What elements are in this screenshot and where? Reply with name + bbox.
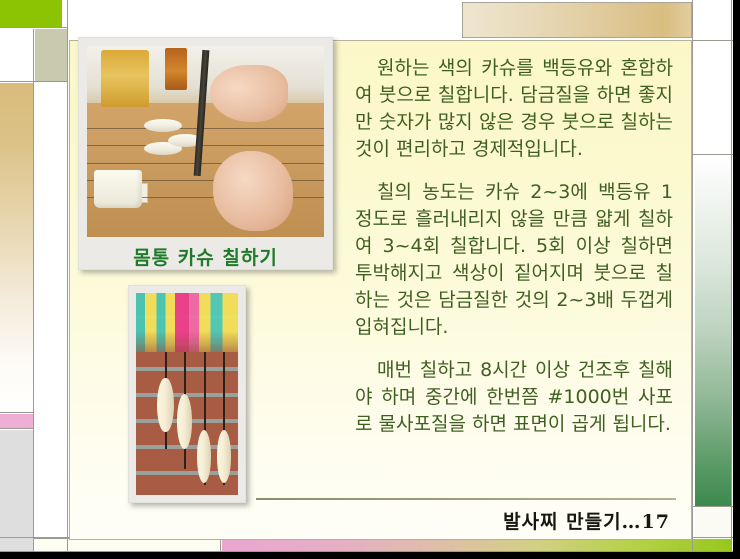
- deco-top-left-green-block: [0, 0, 62, 27]
- content-panel: 몸통 카슈 칠하기 원하는 색의 카슈를 백등유와 혼합하여 붓으로 칠합니다.…: [69, 40, 692, 540]
- frame-line-v4: [731, 0, 732, 552]
- frame-line-v5: [220, 538, 221, 552]
- deco-top-left-white-block: [0, 29, 33, 81]
- photo-hand-lower: [213, 151, 294, 231]
- slide-canvas: 몸통 카슈 칠하기 원하는 색의 카슈를 백등유와 혼합하여 붓으로 칠합니다.…: [0, 0, 740, 559]
- photo-drying-float-2: [177, 394, 192, 449]
- outer-right-black-strip: [733, 0, 740, 559]
- photo-colored-plastic-hooks: [136, 293, 238, 352]
- photo-paint-cup: [94, 170, 141, 208]
- photo-kerosene-bottle: [165, 48, 186, 90]
- deco-left-grey-block: [0, 430, 33, 552]
- photo-float-body-1: [144, 119, 182, 132]
- deco-left-tan-gradient-strip: [0, 83, 33, 413]
- paragraph-3: 매번 칠하고 8시간 이상 건조후 칠해야 하며 중간에 한번쯤 #1000번 …: [355, 357, 673, 438]
- deco-right-green-gradient-column: [695, 156, 731, 506]
- photo-painting-cashew-on-float-body: [87, 46, 324, 237]
- frame-line-h4: [0, 428, 34, 429]
- paragraph-1: 원하는 색의 카슈를 백등유와 혼합하여 붓으로 칠합니다. 담금질을 하면 좋…: [355, 55, 673, 163]
- deco-top-right-tan-bar: [462, 2, 692, 38]
- deco-top-right-white-cell: [695, 0, 731, 40]
- photo-drying-float-4: [217, 430, 231, 483]
- paragraph-2: 칠의 농도는 카슈 2~3에 백등유 1 정도로 흘러내리지 않을 만큼 얇게 …: [355, 179, 673, 341]
- frame-line-h8: [692, 154, 733, 155]
- photo-card-top: 몸통 카슈 칠하기: [78, 37, 333, 270]
- deco-top-left-khaki-block: [35, 29, 67, 81]
- frame-line-h9: [692, 506, 733, 507]
- photo-lacquer-jar: [101, 50, 148, 107]
- deco-right-white-upper-column: [695, 42, 731, 154]
- deco-left-pink-block: [0, 414, 33, 428]
- frame-line-h3: [0, 412, 34, 413]
- body-text-column: 원하는 색의 카슈를 백등유와 혼합하여 붓으로 칠합니다. 담금질을 하면 좋…: [355, 55, 673, 454]
- deco-left-pale-strip: [35, 83, 67, 552]
- footer-divider-rule: [256, 498, 676, 500]
- photo-caption-top: 몸통 카슈 칠하기: [87, 237, 324, 279]
- frame-line-v3: [692, 0, 693, 552]
- footer-title-and-page-number: 발사찌 만들기…17: [370, 507, 670, 534]
- photo-floats-hanging-on-brick-wall: [136, 293, 238, 495]
- outer-bottom-black-strip: [0, 552, 740, 559]
- frame-line-h1: [0, 27, 67, 28]
- frame-line-v1: [33, 29, 34, 552]
- photo-drying-float-1: [157, 378, 173, 433]
- photo-wire-1: [87, 128, 324, 129]
- photo-card-bottom: [128, 285, 246, 503]
- frame-line-h7: [692, 40, 733, 41]
- frame-line-h2: [0, 81, 68, 82]
- deco-top-white-bar: [69, 0, 466, 27]
- photo-hand-upper: [210, 65, 288, 122]
- photo-wire-3: [87, 163, 324, 164]
- frame-line-v2: [67, 0, 68, 552]
- photo-wire-2: [87, 145, 324, 146]
